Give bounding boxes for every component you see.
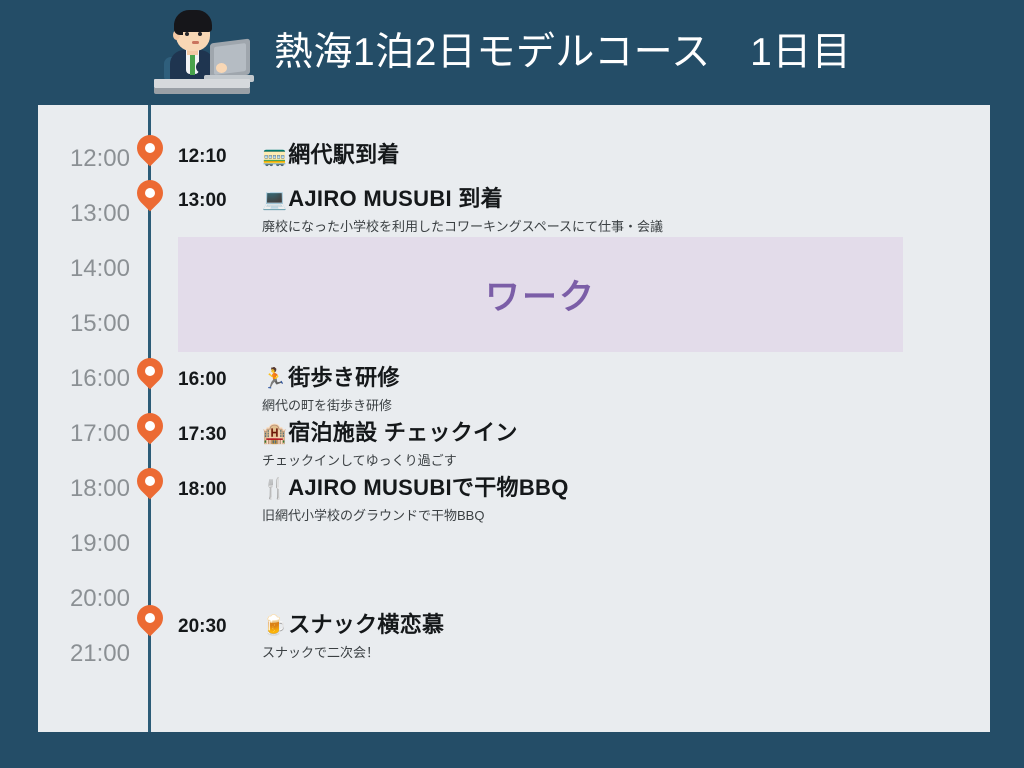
map-pin-hole xyxy=(145,366,155,376)
hand-shape xyxy=(216,63,227,73)
timeline-pin-1730[interactable] xyxy=(137,413,163,447)
laptop-icon: 💻 xyxy=(262,189,287,211)
timeline-pin-1600[interactable] xyxy=(137,358,163,392)
map-pin-hole xyxy=(145,476,155,486)
event-description: 旧網代小学校のグラウンドで干物BBQ xyxy=(262,505,968,524)
hour-label-12: 12:00 xyxy=(38,147,130,171)
hour-label-16: 16:00 xyxy=(38,367,130,391)
event-title: 🏃街歩き研修 xyxy=(262,360,400,392)
event-title: 🚃網代駅到着 xyxy=(262,137,400,169)
event-time: 16:00 xyxy=(178,369,262,391)
hour-label-15: 15:00 xyxy=(38,312,130,336)
event-title: 🍺スナック横恋慕 xyxy=(262,607,444,639)
timeline-pin-1300[interactable] xyxy=(137,180,163,214)
event-time: 13:00 xyxy=(178,190,262,212)
work-block: ワーク xyxy=(178,237,903,352)
event-title-text: 網代駅到着 xyxy=(288,142,400,167)
hotel-icon: 🏨 xyxy=(262,423,287,445)
map-pin-hole xyxy=(145,143,155,153)
hour-label-14: 14:00 xyxy=(38,257,130,281)
slide-root: 熱海1泊2日モデルコース 1日目 12:00 13:00 14:00 15:00… xyxy=(0,0,1024,768)
map-pin-hole xyxy=(145,188,155,198)
event-title: 🍴AJIRO MUSUBIで干物BBQ xyxy=(262,470,569,502)
businessman-at-laptop-illustration xyxy=(152,5,252,101)
desk-shadow-shape xyxy=(154,88,250,94)
event-row[interactable]: 16:00 🏃街歩き研修 網代の町を街歩き研修 xyxy=(178,360,968,414)
desk-top-shape xyxy=(154,79,250,88)
page-title: 熱海1泊2日モデルコース 1日目 xyxy=(274,33,851,72)
event-title-text: AJIRO MUSUBIで干物BBQ xyxy=(288,475,568,500)
event-row[interactable]: 13:00 💻AJIRO MUSUBI 到着 廃校になった小学校を利用したコワー… xyxy=(178,181,968,235)
hour-label-19: 19:00 xyxy=(38,532,130,556)
hour-label-13: 13:00 xyxy=(38,202,130,226)
event-heading: 18:00 🍴AJIRO MUSUBIで干物BBQ xyxy=(178,470,968,502)
beer-mug-icon: 🍺 xyxy=(262,615,287,637)
event-row[interactable]: 18:00 🍴AJIRO MUSUBIで干物BBQ 旧網代小学校のグラウンドで干… xyxy=(178,470,968,524)
event-time: 20:30 xyxy=(178,616,262,638)
map-pin-hole xyxy=(145,613,155,623)
event-time: 12:10 xyxy=(178,146,262,168)
event-heading: 17:30 🏨宿泊施設 チェックイン xyxy=(178,415,968,447)
runner-icon: 🏃 xyxy=(262,368,287,390)
event-title-text: 街歩き研修 xyxy=(288,365,400,390)
mouth-shape xyxy=(192,41,199,44)
timeline-pin-1210[interactable] xyxy=(137,135,163,169)
sideburn-shape xyxy=(174,19,183,35)
slide-header: 熱海1泊2日モデルコース 1日目 xyxy=(0,0,1024,105)
event-time: 18:00 xyxy=(178,479,262,501)
timeline-pin-2030[interactable] xyxy=(137,605,163,639)
hour-label-17: 17:00 xyxy=(38,422,130,446)
event-description: 網代の町を街歩き研修 xyxy=(262,395,968,414)
event-heading: 16:00 🏃街歩き研修 xyxy=(178,360,968,392)
timeline-pin-1800[interactable] xyxy=(137,468,163,502)
map-pin-hole xyxy=(145,421,155,431)
event-title-text: AJIRO MUSUBI 到着 xyxy=(288,186,503,211)
train-icon: 🚃 xyxy=(262,145,287,167)
event-heading: 12:10 🚃網代駅到着 xyxy=(178,137,968,169)
event-heading: 13:00 💻AJIRO MUSUBI 到着 xyxy=(178,181,968,213)
work-block-label: ワーク xyxy=(485,269,596,320)
event-time: 17:30 xyxy=(178,424,262,446)
event-description: チェックインしてゆっくり過ごす xyxy=(262,450,968,469)
event-row[interactable]: 12:10 🚃網代駅到着 xyxy=(178,137,968,169)
hour-label-21: 21:00 xyxy=(38,642,130,666)
timeline-panel: 12:00 13:00 14:00 15:00 16:00 17:00 18:0… xyxy=(38,105,990,732)
left-eye-shape xyxy=(185,32,189,36)
fork-and-knife-icon: 🍴 xyxy=(262,478,287,500)
event-heading: 20:30 🍺スナック横恋慕 xyxy=(178,607,968,639)
event-description: スナックで二次会！ xyxy=(262,642,968,661)
event-row[interactable]: 20:30 🍺スナック横恋慕 スナックで二次会！ xyxy=(178,607,968,661)
event-title: 🏨宿泊施設 チェックイン xyxy=(262,415,518,447)
hour-label-20: 20:00 xyxy=(38,587,130,611)
event-description: 廃校になった小学校を利用したコワーキングスペースにて仕事・会議 xyxy=(262,216,968,235)
event-title-text: 宿泊施設 チェックイン xyxy=(288,420,517,445)
hour-label-18: 18:00 xyxy=(38,477,130,501)
necktie-shape xyxy=(190,53,195,75)
event-row[interactable]: 17:30 🏨宿泊施設 チェックイン チェックインしてゆっくり過ごす xyxy=(178,415,968,469)
right-eye-shape xyxy=(198,32,202,36)
event-title-text: スナック横恋慕 xyxy=(288,612,444,637)
event-title: 💻AJIRO MUSUBI 到着 xyxy=(262,181,503,213)
